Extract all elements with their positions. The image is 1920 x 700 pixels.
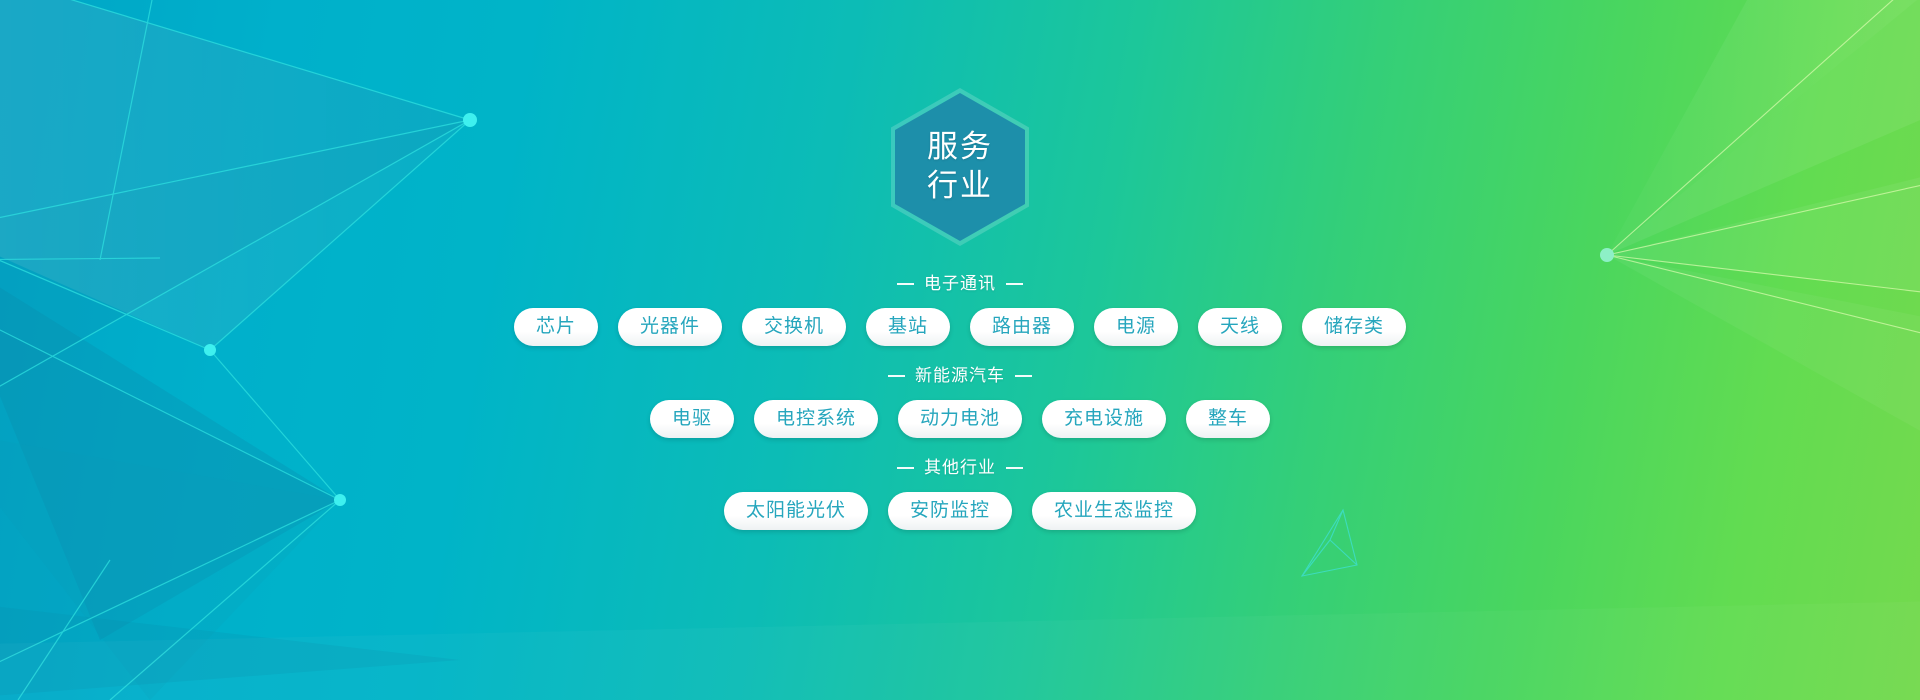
category-pill-chip[interactable]: 芯片 <box>514 308 598 346</box>
category-pill-storage[interactable]: 储存类 <box>1302 308 1406 346</box>
category-pill-security[interactable]: 安防监控 <box>888 492 1012 530</box>
category-pill-charging[interactable]: 充电设施 <box>1042 400 1166 438</box>
dash-left-icon <box>897 283 914 285</box>
category-groups: 电子通讯 芯片 光器件 交换机 基站 路由器 电源 天线 储存类 <box>0 272 1920 548</box>
category-pill-router[interactable]: 路由器 <box>970 308 1074 346</box>
hexagon-line-2: 行业 <box>927 167 993 206</box>
banner-content: 服务 行业 电子通讯 芯片 光器件 交换机 基站 路由器 电源 <box>0 0 1920 700</box>
pill-row-new-energy-vehicles: 电驱 电控系统 动力电池 充电设施 整车 <box>650 400 1270 438</box>
pill-row-electronics-communications: 芯片 光器件 交换机 基站 路由器 电源 天线 储存类 <box>514 308 1406 346</box>
category-pill-solar[interactable]: 太阳能光伏 <box>724 492 868 530</box>
category-pill-optical[interactable]: 光器件 <box>618 308 722 346</box>
category-pill-power[interactable]: 电源 <box>1094 308 1178 346</box>
category-pill-control-system[interactable]: 电控系统 <box>754 400 878 438</box>
category-pill-edrive[interactable]: 电驱 <box>650 400 734 438</box>
group-title: 电子通讯 <box>924 272 996 296</box>
dash-left-icon <box>888 375 905 377</box>
dash-right-icon <box>1015 375 1032 377</box>
category-pill-agriculture[interactable]: 农业生态监控 <box>1032 492 1196 530</box>
dash-right-icon <box>1006 467 1023 469</box>
service-industry-banner: 服务 行业 电子通讯 芯片 光器件 交换机 基站 路由器 电源 <box>0 0 1920 700</box>
service-industry-hexagon: 服务 行业 <box>891 88 1029 246</box>
category-pill-battery[interactable]: 动力电池 <box>898 400 1022 438</box>
dash-right-icon <box>1006 283 1023 285</box>
category-group-electronics-communications: 电子通讯 芯片 光器件 交换机 基站 路由器 电源 天线 储存类 <box>0 272 1920 364</box>
group-title: 其他行业 <box>924 456 996 480</box>
hexagon-line-1: 服务 <box>927 128 993 167</box>
group-header-other-industries: 其他行业 <box>897 456 1023 480</box>
category-pill-antenna[interactable]: 天线 <box>1198 308 1282 346</box>
category-pill-switch[interactable]: 交换机 <box>742 308 846 346</box>
pill-row-other-industries: 太阳能光伏 安防监控 农业生态监控 <box>724 492 1196 530</box>
category-group-other-industries: 其他行业 太阳能光伏 安防监控 农业生态监控 <box>0 456 1920 548</box>
category-pill-base-station[interactable]: 基站 <box>866 308 950 346</box>
category-pill-vehicle[interactable]: 整车 <box>1186 400 1270 438</box>
group-title: 新能源汽车 <box>915 364 1005 388</box>
group-header-electronics-communications: 电子通讯 <box>897 272 1023 296</box>
dash-left-icon <box>897 467 914 469</box>
category-group-new-energy-vehicles: 新能源汽车 电驱 电控系统 动力电池 充电设施 整车 <box>0 364 1920 456</box>
group-header-new-energy-vehicles: 新能源汽车 <box>888 364 1032 388</box>
